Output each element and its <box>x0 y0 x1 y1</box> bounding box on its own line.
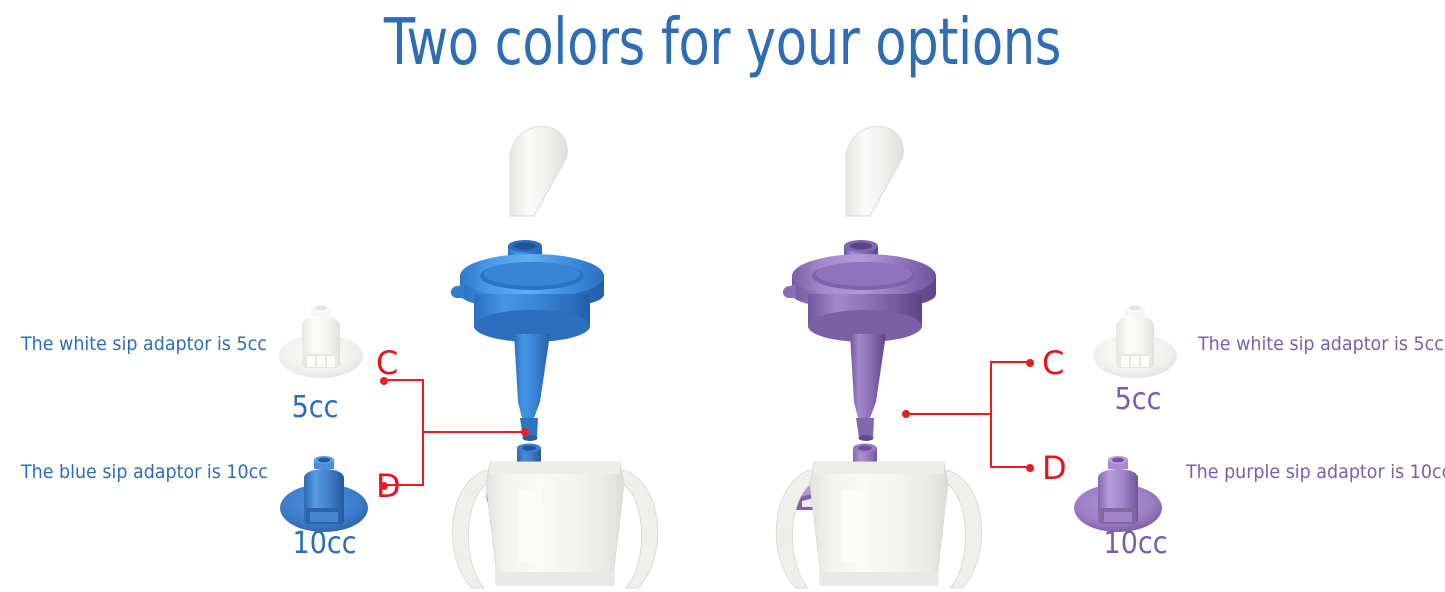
left-white-adaptor-text: The white sip adaptor is 5cc <box>21 333 267 355</box>
left-leader-seg-c <box>384 379 424 381</box>
right-leader-seg-c <box>990 361 1028 363</box>
right-marker-d: D <box>1042 452 1067 484</box>
purple-lid <box>783 240 936 441</box>
white-spout-right <box>846 127 903 216</box>
page-title: Two colors for your options <box>145 6 1301 80</box>
blue-lid <box>451 240 604 441</box>
left-blue-capacity-label: 10cc <box>293 528 357 560</box>
left-white-capacity-label: 5cc <box>292 392 339 424</box>
left-leader-horizontal <box>422 431 526 433</box>
translucent-cup-body-right <box>776 462 981 588</box>
left-white-adaptor-description: The white sip adaptor is 5cc <box>21 332 262 357</box>
left-leader-dot-target <box>521 428 529 436</box>
infographic-page: Two colors for your options <box>0 0 1445 592</box>
right-leader-seg-d <box>990 466 1028 468</box>
left-marker-c: C <box>376 347 398 379</box>
blue-cup-assembly <box>438 118 728 592</box>
right-white-adaptor-description: The white sip adaptor is 5cc <box>1198 332 1444 357</box>
right-purple-capacity-label: 10cc <box>1104 528 1168 560</box>
right-leader-dot-target <box>902 410 910 418</box>
purple-cup-assembly <box>762 118 1052 592</box>
white-sip-adaptor-right <box>1092 296 1178 384</box>
right-colored-adaptor-description: The purple sip adaptor is 10cc <box>1186 460 1445 485</box>
white-spout <box>510 127 567 216</box>
right-white-capacity-label: 5cc <box>1115 384 1162 416</box>
right-marker-c: C <box>1042 347 1064 379</box>
right-leader-horizontal <box>906 413 992 415</box>
left-blue-adaptor-text: The blue sip adaptor is 10cc <box>21 461 268 483</box>
white-sip-adaptor-left <box>278 296 364 384</box>
right-white-adaptor-text: The white sip adaptor is 5cc <box>1198 333 1444 355</box>
left-colored-adaptor-description: The blue sip adaptor is 10cc <box>21 460 262 485</box>
left-leader-seg-d <box>384 484 424 486</box>
translucent-cup-body <box>452 462 657 588</box>
right-purple-adaptor-text: The purple sip adaptor is 10cc <box>1186 461 1445 483</box>
